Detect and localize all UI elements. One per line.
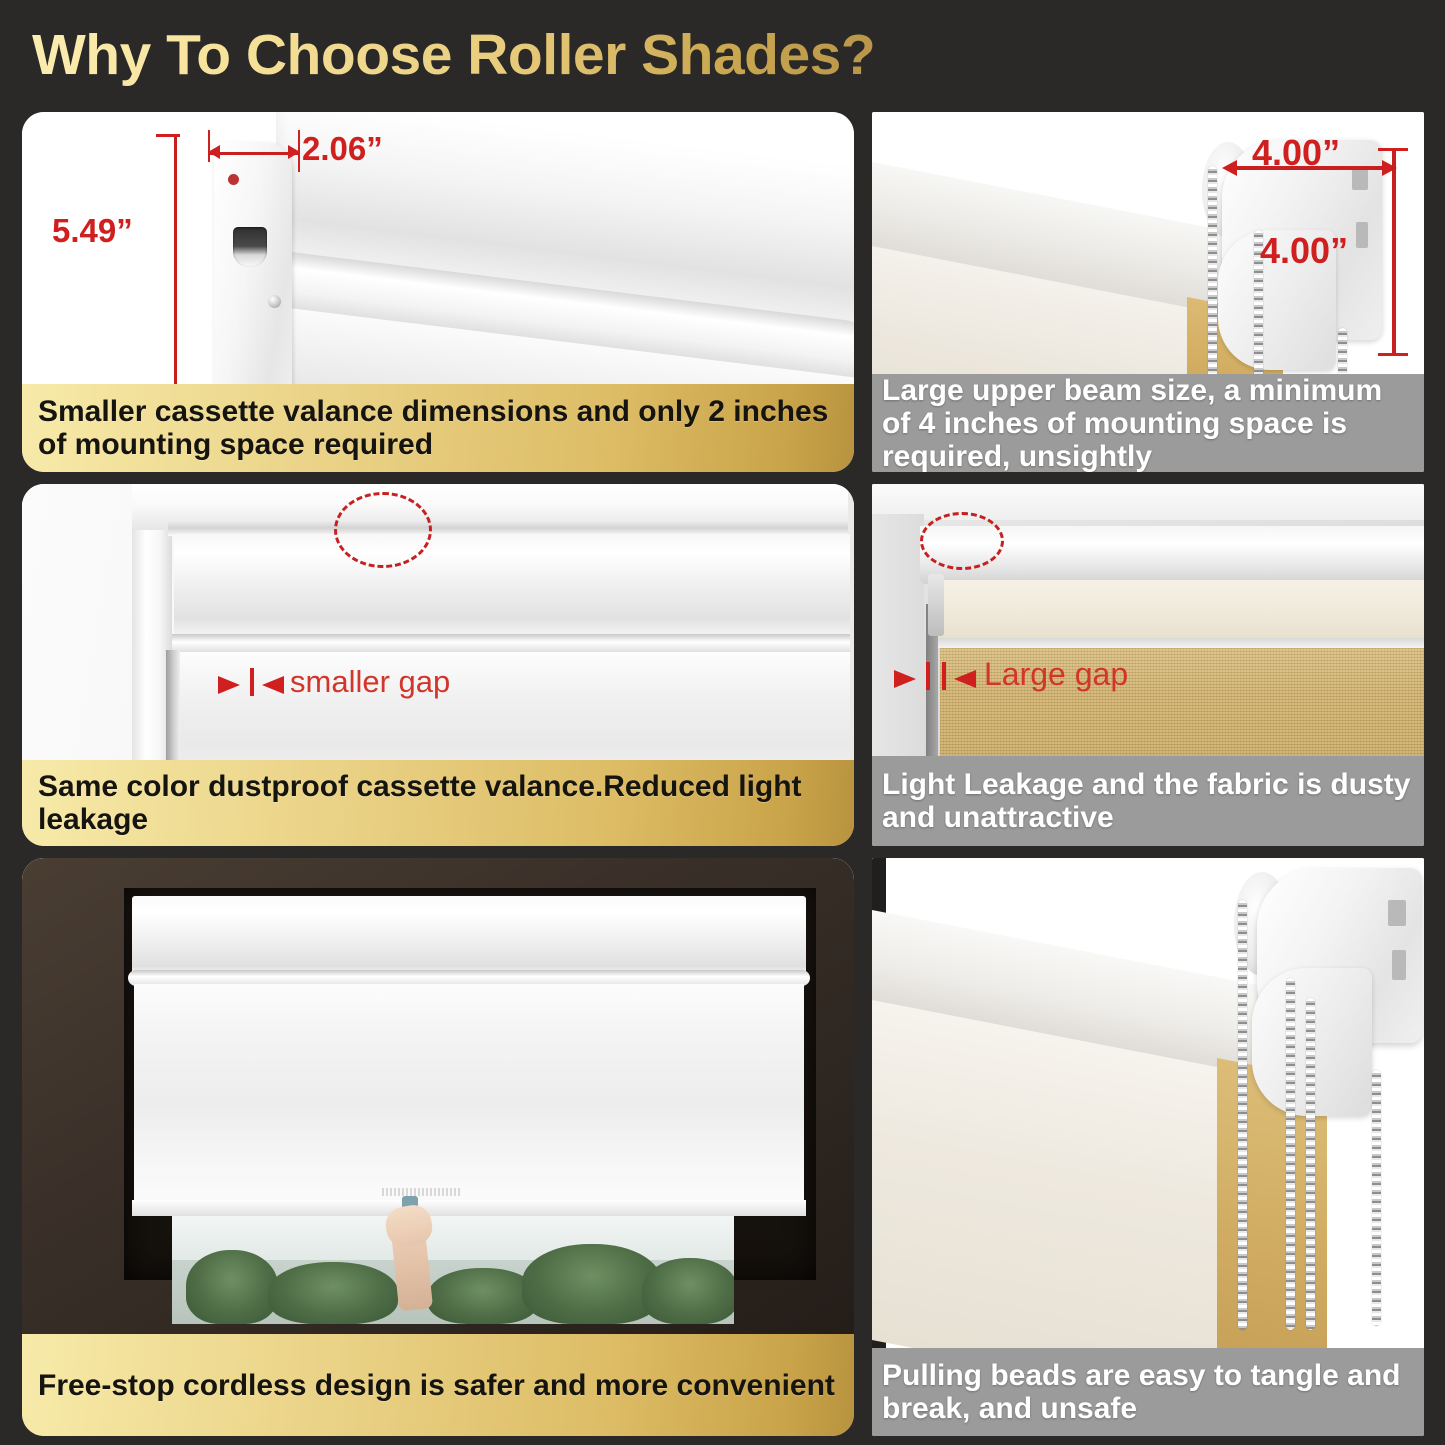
largegap-tick-2 bbox=[942, 662, 946, 690]
gap-tick bbox=[250, 668, 254, 696]
largegap-arrow-left bbox=[894, 670, 916, 688]
dim-arrow-beam-left bbox=[1222, 160, 1237, 176]
sky bbox=[172, 1214, 734, 1260]
bead-chain-1 bbox=[1208, 166, 1217, 374]
dim-tick-beam-bottom bbox=[1378, 353, 1408, 356]
dim-label-beam-width: 4.00” bbox=[1252, 132, 1340, 174]
dim-arrow-width-left bbox=[208, 145, 220, 159]
wall-left bbox=[872, 514, 924, 756]
shade-fabric-room bbox=[134, 984, 804, 1206]
shade-fabric bbox=[174, 652, 850, 760]
gap-arrow-left bbox=[218, 676, 240, 694]
panel-4-caption-bar: Light Leakage and the fabric is dusty an… bbox=[872, 756, 1424, 846]
bracket-bolt bbox=[228, 174, 239, 185]
highlight-circle-gap bbox=[334, 492, 432, 568]
bracket-notch-1 bbox=[1352, 168, 1368, 190]
panel-4-caption-text: Light Leakage and the fabric is dusty an… bbox=[882, 768, 1414, 834]
panel-large-beam[interactable]: 4.00” 4.00” Large upper beam size, a min… bbox=[872, 112, 1424, 472]
brand-logo bbox=[382, 1188, 462, 1196]
bottom-rail bbox=[132, 1200, 806, 1216]
bead-chain-6-2 bbox=[1286, 978, 1295, 1330]
panel-3-photo: smaller gap bbox=[22, 484, 854, 760]
tree-1 bbox=[186, 1250, 278, 1324]
panel-6-caption-text: Pulling beads are easy to tangle and bre… bbox=[882, 1359, 1414, 1425]
panel-5-caption-bar: Free-stop cordless design is safer and m… bbox=[22, 1334, 854, 1436]
cream-valance-lip bbox=[930, 638, 1424, 648]
bracket-notch-2 bbox=[1356, 222, 1368, 248]
bracket-notch-6-2 bbox=[1392, 950, 1406, 980]
tree-2 bbox=[268, 1262, 398, 1324]
bead-chain-3 bbox=[1338, 328, 1347, 374]
page-title: Why To Choose Roller Shades? bbox=[32, 22, 875, 88]
panel-2-caption-text: Large upper beam size, a minimum of 4 in… bbox=[882, 374, 1414, 473]
panel-1-caption-bar: Smaller cassette valance dimensions and … bbox=[22, 384, 854, 472]
dim-tick-beam-top bbox=[1378, 148, 1408, 151]
gap-label-smaller: smaller gap bbox=[290, 664, 450, 700]
header: Why To Choose Roller Shades? bbox=[0, 0, 1445, 108]
panel-4-photo: Large gap bbox=[872, 484, 1424, 756]
highlight-circle-leak bbox=[920, 512, 1004, 570]
panel-5-caption-text: Free-stop cordless design is safer and m… bbox=[38, 1369, 838, 1402]
bead-chain-6-3 bbox=[1306, 998, 1315, 1330]
cassette-valance-room bbox=[132, 896, 806, 976]
bracket-slot bbox=[233, 227, 267, 267]
panel-6-photo bbox=[872, 858, 1424, 1348]
panel-2-caption-bar: Large upper beam size, a minimum of 4 in… bbox=[872, 374, 1424, 472]
panel-cassette-dimensions[interactable]: 2.06” 5.49” Smaller cassette valance dim… bbox=[22, 112, 854, 472]
dim-label-width: 2.06” bbox=[302, 130, 383, 168]
roller-mechanism bbox=[928, 574, 944, 636]
bracket-notch-6-1 bbox=[1388, 900, 1406, 926]
dim-arrow-width-right bbox=[288, 145, 300, 159]
comparison-grid: 2.06” 5.49” Smaller cassette valance dim… bbox=[0, 108, 1445, 1445]
dim-line-beam-height bbox=[1392, 148, 1396, 356]
largegap-tick-1 bbox=[926, 662, 930, 690]
bracket-screw-upper bbox=[268, 295, 281, 308]
panel-pulling-beads[interactable]: Pulling beads are easy to tangle and bre… bbox=[872, 858, 1424, 1436]
panel-2-photo: 4.00” 4.00” bbox=[872, 112, 1424, 374]
panel-light-leakage[interactable]: Large gap Light Leakage and the fabric i… bbox=[872, 484, 1424, 846]
cassette-valance-lip bbox=[172, 634, 850, 652]
panel-6-caption-bar: Pulling beads are easy to tangle and bre… bbox=[872, 1348, 1424, 1436]
panel-dustproof-valance[interactable]: smaller gap Same color dustproof cassett… bbox=[22, 484, 854, 846]
dim-line-height bbox=[174, 134, 177, 384]
gap-label-large: Large gap bbox=[984, 656, 1128, 693]
dim-label-height: 5.49” bbox=[52, 212, 133, 250]
dim-label-beam-height: 4.00” bbox=[1260, 230, 1348, 272]
gap-arrow-right bbox=[262, 676, 284, 694]
cassette-valance bbox=[174, 534, 850, 640]
panel-1-photo: 2.06” 5.49” bbox=[22, 112, 854, 384]
dim-line-width bbox=[210, 152, 300, 155]
panel-cordless-design[interactable]: Free-stop cordless design is safer and m… bbox=[22, 858, 854, 1436]
panel-5-photo bbox=[22, 858, 854, 1334]
window-glass bbox=[172, 1214, 734, 1324]
bead-chain-6-1 bbox=[1238, 900, 1247, 1330]
cream-valance bbox=[934, 580, 1424, 642]
tree-5 bbox=[642, 1258, 734, 1324]
tree-4 bbox=[522, 1244, 662, 1324]
largegap-arrow-right bbox=[954, 670, 976, 688]
panel-1-caption-text: Smaller cassette valance dimensions and … bbox=[38, 395, 838, 461]
bead-chain-6-4 bbox=[1372, 1070, 1381, 1326]
shade-side-edge bbox=[166, 650, 180, 760]
dim-tick-height-top bbox=[156, 134, 180, 137]
panel-3-caption-text: Same color dustproof cassette valance.Re… bbox=[38, 770, 838, 836]
panel-3-caption-bar: Same color dustproof cassette valance.Re… bbox=[22, 760, 854, 846]
